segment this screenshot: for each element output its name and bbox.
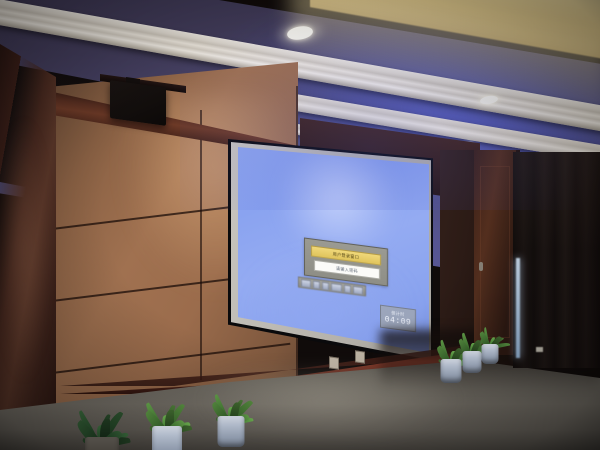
door-panel-inset xyxy=(480,166,510,338)
toolbar-button-6[interactable] xyxy=(353,285,363,294)
toolbar-button-2[interactable] xyxy=(313,280,320,289)
timer-value: 04:09 xyxy=(385,315,412,328)
curtain-highlight xyxy=(513,152,600,368)
wall-outlet-2[interactable] xyxy=(355,350,365,363)
downlight-1-icon xyxy=(274,20,326,46)
door-handle[interactable] xyxy=(479,262,483,271)
plant-pot xyxy=(441,359,462,383)
pilaster-highlight xyxy=(4,120,48,380)
ceiling-speaker xyxy=(110,80,166,126)
plant-pot xyxy=(482,344,499,364)
projected-countdown-timer: 倒计时 04:09 xyxy=(380,305,416,333)
plant-pot xyxy=(462,351,481,373)
room-photo: 用户登录窗口 请输入密码 倒计时 04:09 xyxy=(0,0,600,450)
plant-3 xyxy=(196,376,266,447)
plant-pot xyxy=(218,416,245,447)
plant-2 xyxy=(128,382,206,450)
projection-screen-surface: 用户登录窗口 请输入密码 倒计时 04:09 xyxy=(238,147,429,353)
projector-hotspot xyxy=(278,147,398,247)
window-light-gap xyxy=(516,258,520,358)
wall-outlet-1[interactable] xyxy=(329,356,339,369)
plant-pot xyxy=(152,426,182,450)
floor-object xyxy=(536,347,543,352)
toolbar-button-5[interactable] xyxy=(344,284,351,293)
toolbar-button-1[interactable] xyxy=(301,278,311,287)
downlight-2-icon xyxy=(471,92,507,108)
panel-seam-v-1 xyxy=(200,110,202,380)
toolbar-button-3[interactable] xyxy=(322,281,329,290)
toolbar-button-4[interactable] xyxy=(331,282,342,291)
plant-pot xyxy=(85,437,119,450)
